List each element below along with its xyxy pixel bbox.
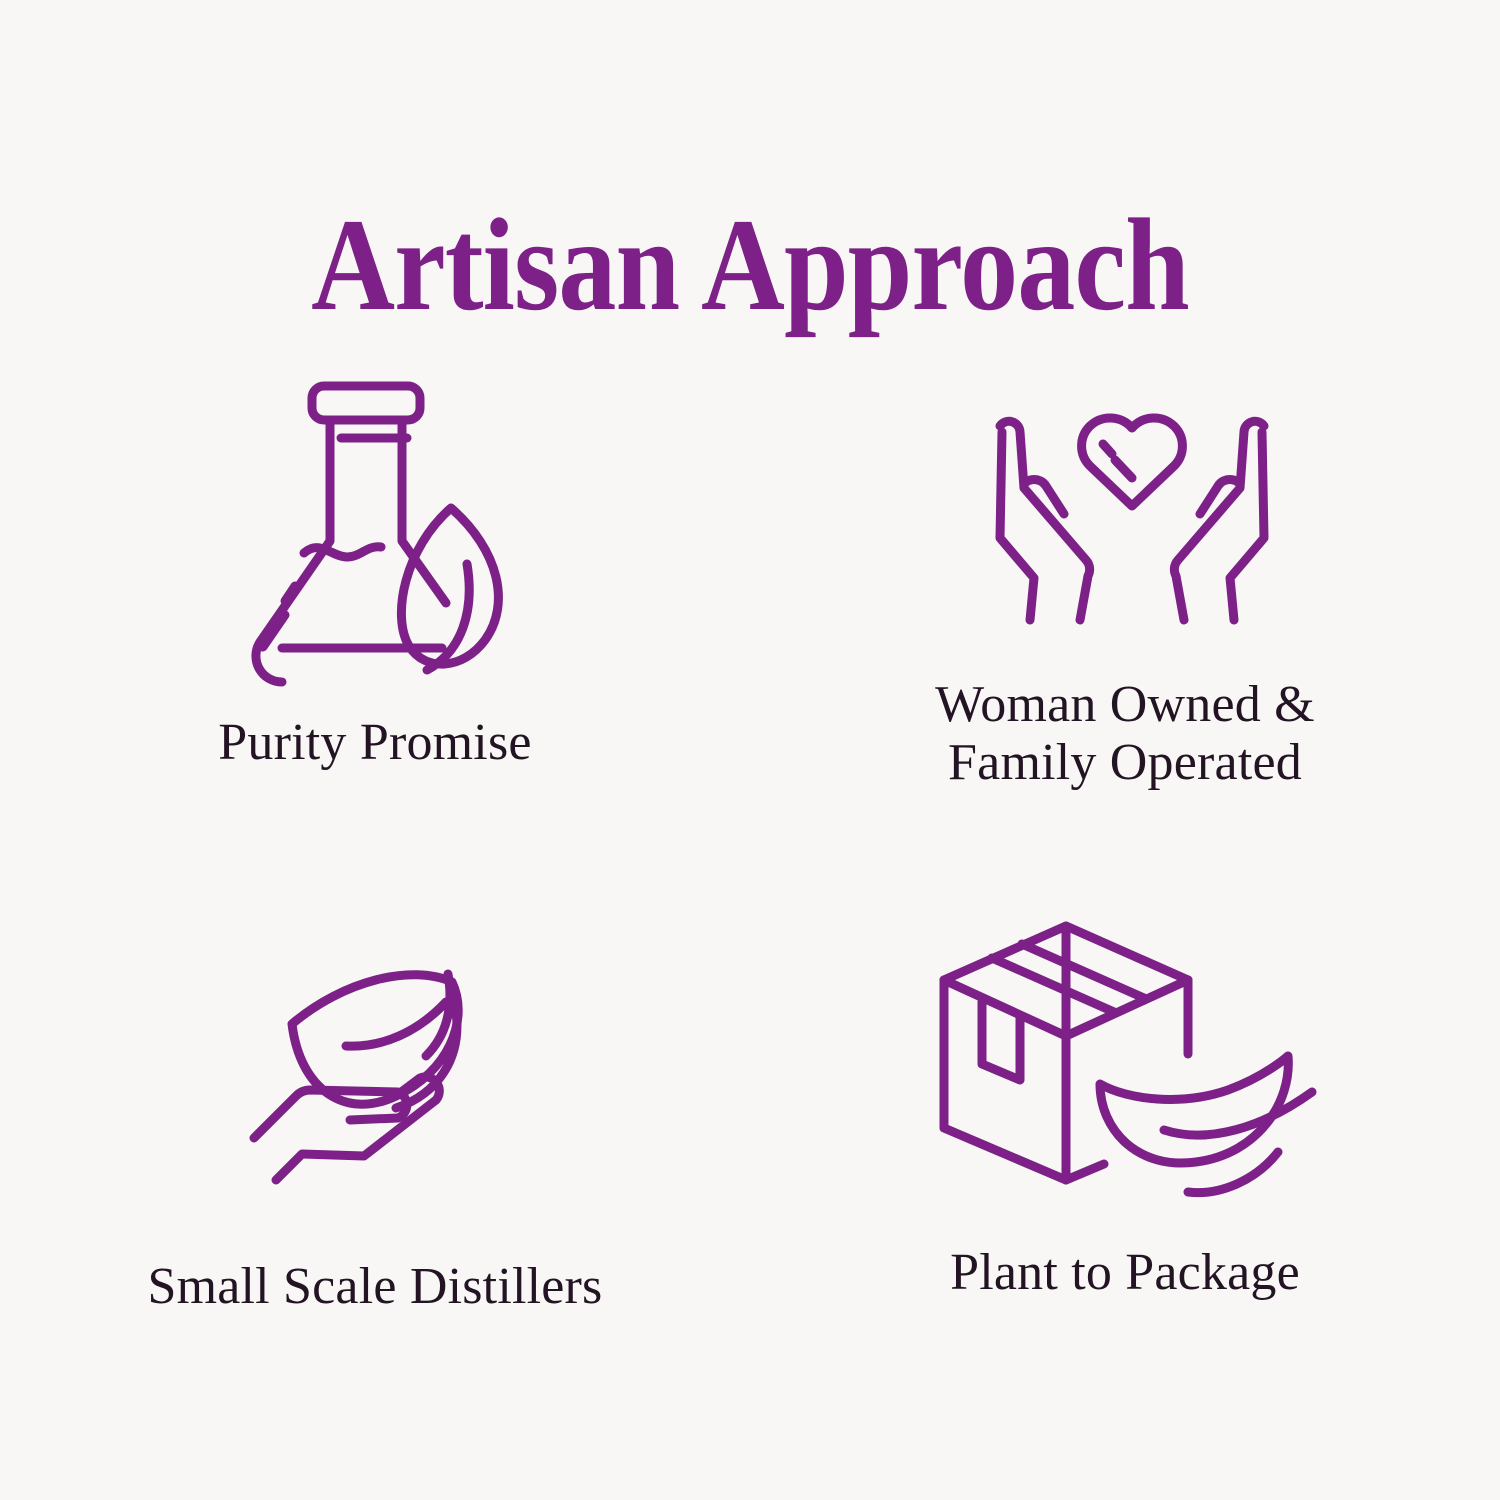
page-title: Artisan Approach (90, 196, 1410, 335)
feature-item-purity-promise: Purity Promise (0, 350, 750, 890)
leaf-in-hand-icon (250, 932, 500, 1192)
flask-leaf-icon (229, 368, 529, 678)
feature-label: Purity Promise (218, 714, 531, 772)
feature-item-plant-to-package: Plant to Package (750, 890, 1500, 1430)
feature-item-woman-owned: Woman Owned & Family Operated (750, 350, 1500, 890)
artisan-approach-infographic: Artisan Approach (0, 0, 1500, 1500)
hands-holding-heart-icon (972, 384, 1292, 634)
feature-label: Plant to Package (950, 1244, 1300, 1302)
feature-label: Woman Owned & Family Operated (935, 676, 1315, 792)
feature-item-small-scale-distillers: Small Scale Distillers (0, 890, 750, 1430)
feature-grid: Purity Promise (0, 350, 1500, 1430)
feature-label: Small Scale Distillers (147, 1258, 602, 1316)
box-leaf-icon (934, 918, 1334, 1188)
